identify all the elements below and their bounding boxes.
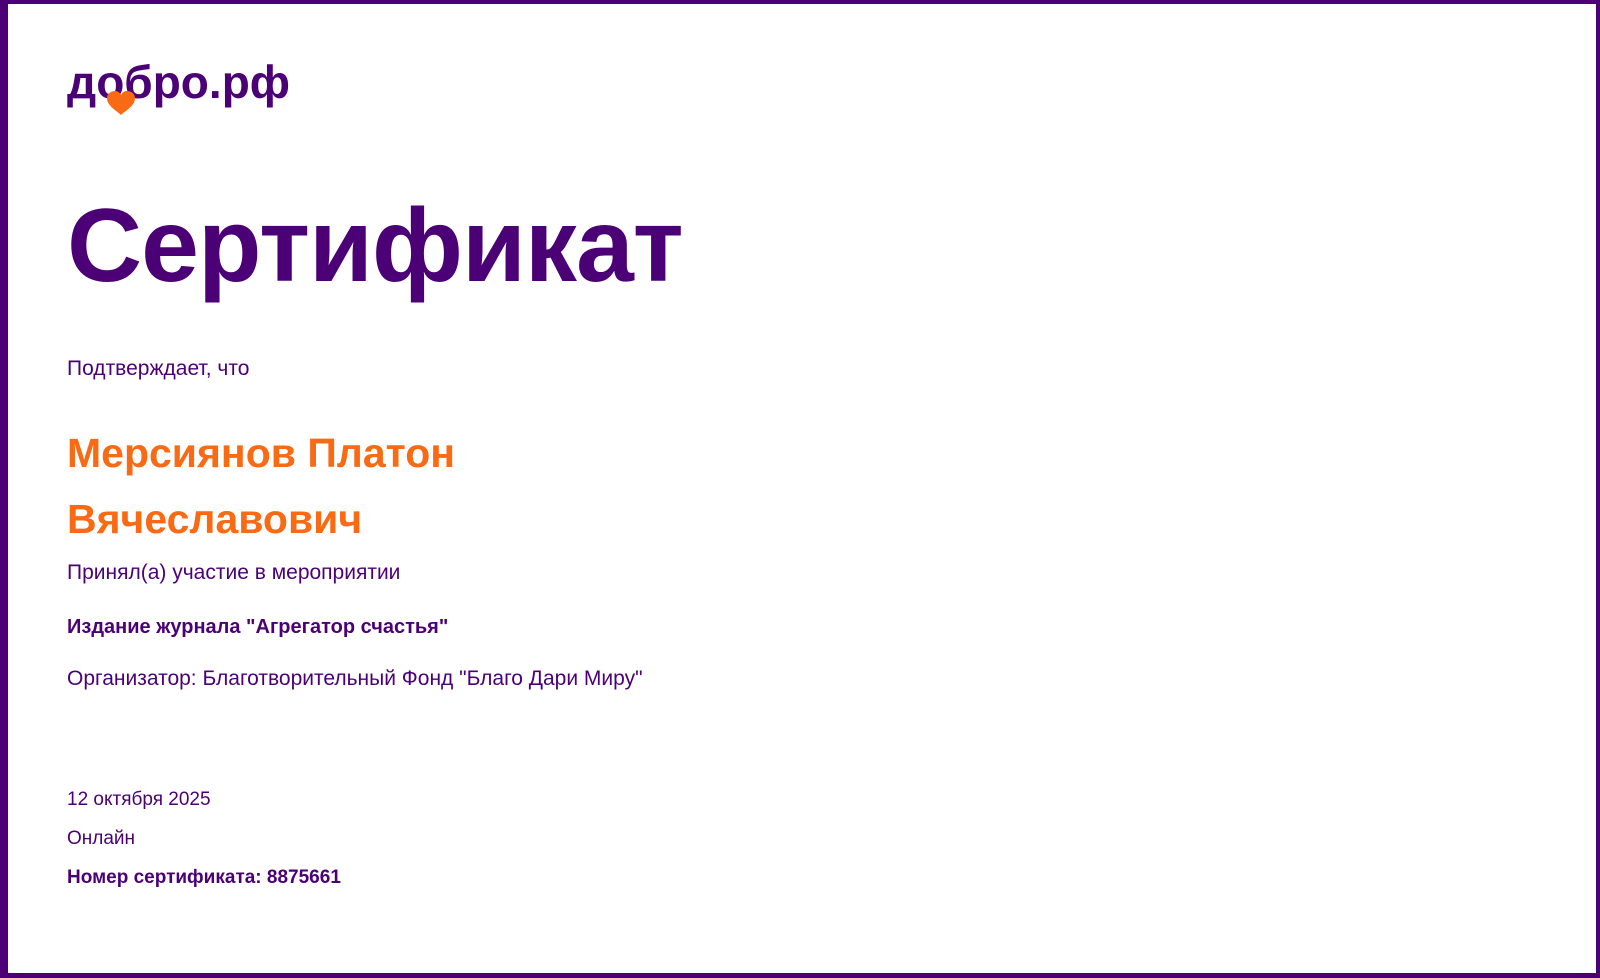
event-location: Онлайн <box>67 819 341 858</box>
border-top <box>0 0 1600 4</box>
logo-wordmark: добро.рф <box>67 58 290 108</box>
border-bottom <box>0 973 1600 978</box>
organizer-line: Организатор: Благотворительный Фонд "Бла… <box>67 666 643 692</box>
dobro-rf-logo-svg: добро.рф <box>67 58 299 120</box>
event-name: Издание журнала "Агрегатор счастья" <box>67 614 448 640</box>
confirms-label: Подтверждает, что <box>67 356 249 382</box>
certificate-page: добро.рф Сертификат Подтверждает, что Ме… <box>0 0 1600 978</box>
participation-label: Принял(а) участие в мероприятии <box>67 560 400 586</box>
certificate-number: Номер сертификата: 8875661 <box>67 858 341 897</box>
border-right <box>1596 0 1600 978</box>
border-left <box>0 0 8 978</box>
page-title: Сертификат <box>67 194 683 298</box>
recipient-name: Мерсиянов Платон Вячеславович <box>67 420 707 552</box>
dobro-rf-logo: добро.рф <box>67 58 299 114</box>
certificate-footer: 12 октября 2025 Онлайн Номер сертификата… <box>67 780 341 897</box>
issue-date: 12 октября 2025 <box>67 780 341 819</box>
